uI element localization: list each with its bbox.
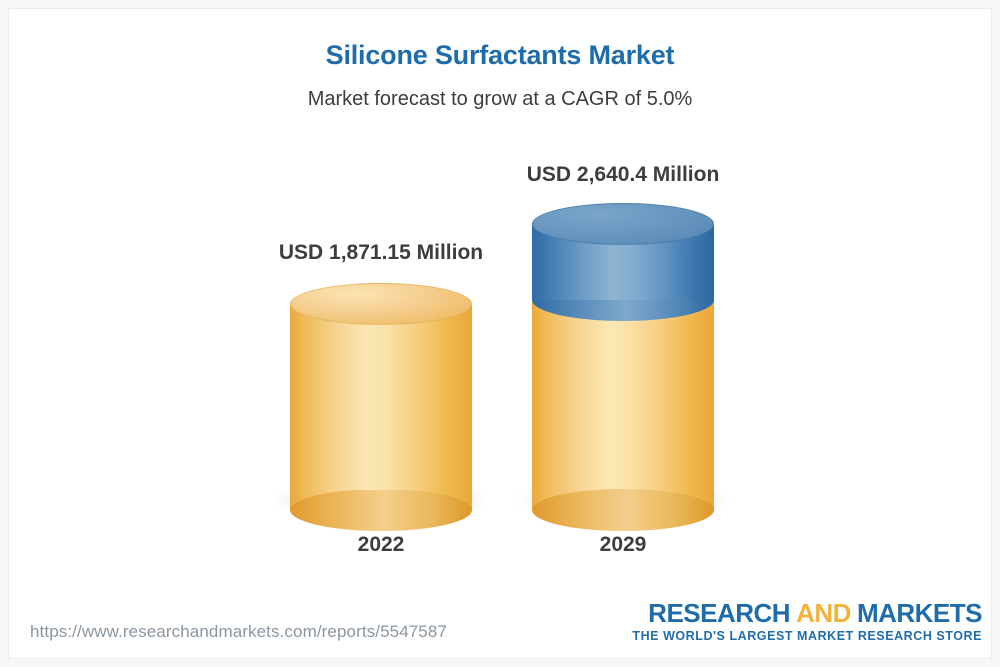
bar-2022-top-cap (290, 283, 472, 325)
category-label-2022: 2022 (291, 533, 471, 557)
chart-subtitle: Market forecast to grow at a CAGR of 5.0… (0, 88, 1000, 111)
logo-word-and: AND (796, 598, 851, 628)
bar-2022-bottom-cap (290, 489, 472, 531)
report-url[interactable]: https://www.researchandmarkets.com/repor… (30, 622, 447, 642)
logo-word-research: RESEARCH (648, 598, 790, 628)
bar-2029-top-cap (532, 203, 714, 245)
logo-wordmark: RESEARCHANDMARKETS (632, 600, 982, 627)
bar-2022-side-upper-fill (290, 304, 472, 490)
value-label-2029: USD 2,640.4 Million (433, 163, 813, 187)
bar-2029[interactable] (532, 203, 714, 531)
category-label-2029: 2029 (533, 533, 713, 557)
bar-2022-body (290, 283, 472, 531)
bar-2022-side-upper (290, 304, 472, 490)
chart-title: Silicone Surfactants Market (0, 40, 1000, 71)
logo-word-markets: MARKETS (857, 598, 982, 628)
bar-2022[interactable] (290, 283, 472, 531)
chart-canvas: Silicone Surfactants Market Market forec… (0, 0, 1000, 667)
logo-tagline: THE WORLD'S LARGEST MARKET RESEARCH STOR… (632, 629, 982, 644)
research-and-markets-logo[interactable]: RESEARCHANDMARKETS THE WORLD'S LARGEST M… (632, 600, 982, 644)
bar-2029-bottom-cap (532, 489, 714, 531)
value-label-2022: USD 1,871.15 Million (191, 241, 571, 265)
bar-2029-body (532, 203, 714, 531)
